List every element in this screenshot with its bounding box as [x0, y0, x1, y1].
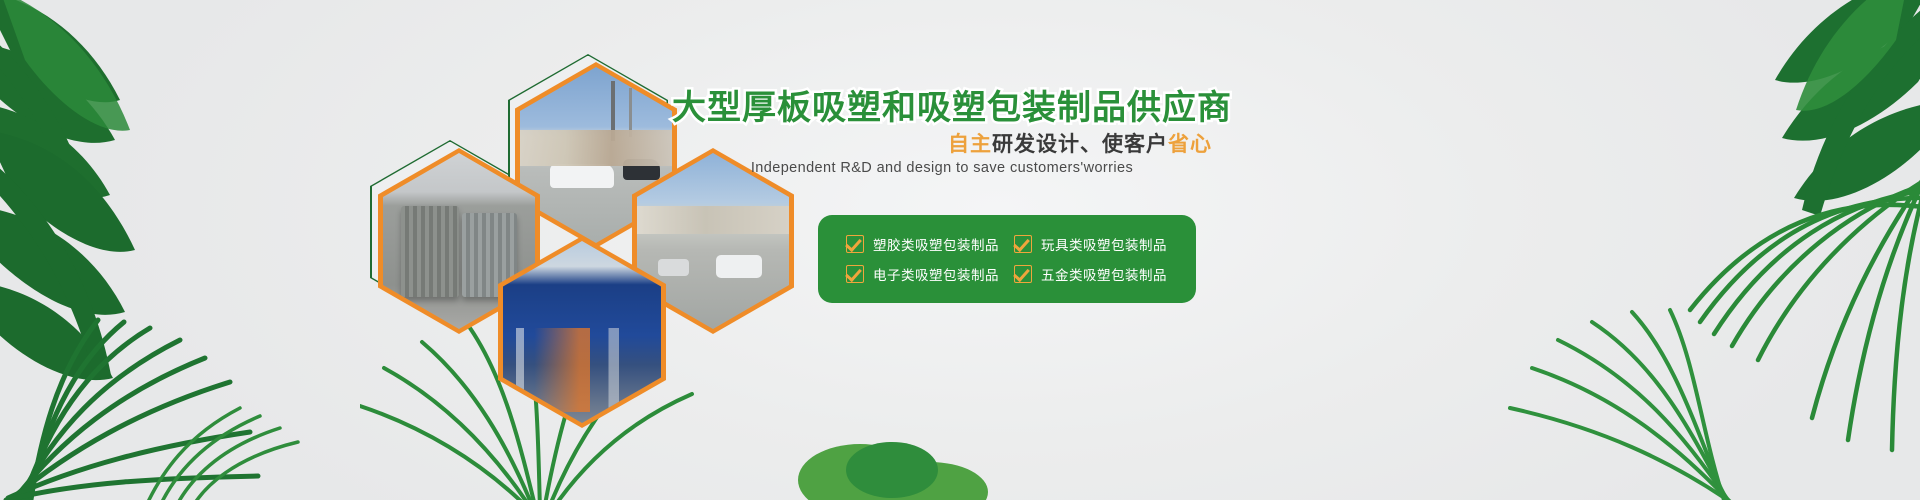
production-line-photo: [503, 241, 661, 423]
banner-headline: 大型厚板吸塑和吸塑包装制品供应商: [672, 80, 1212, 129]
checkbox-checked-icon: [1014, 235, 1032, 253]
promo-banner: 大型厚板吸塑和吸塑包装制品供应商 自主研发设计、使客户省心 Independen…: [0, 0, 1920, 500]
feature-list-box: 塑胶类吸塑包装制品 玩具类吸塑包装制品 电子类吸塑包装制品 五金类吸塑包装制品: [818, 215, 1196, 303]
feature-label: 塑胶类吸塑包装制品: [873, 234, 999, 254]
monstera-leaf-left-top-icon: [0, 0, 270, 390]
monstera-leaf-right-top-icon: [1610, 0, 1920, 260]
checkbox-checked-icon: [1014, 265, 1032, 283]
subline-highlight-start: 自主: [948, 133, 992, 156]
feature-label: 电子类吸塑包装制品: [873, 264, 999, 284]
feature-item-3[interactable]: 五金类吸塑包装制品: [1014, 264, 1182, 284]
checkbox-checked-icon: [846, 235, 864, 253]
subline-highlight-end: 省心: [1168, 133, 1212, 156]
subline-middle: 研发设计、使客户: [992, 133, 1168, 156]
feature-label: 玩具类吸塑包装制品: [1041, 234, 1167, 254]
checkbox-checked-icon: [846, 265, 864, 283]
grass-bottom-left-icon: [120, 400, 380, 500]
feature-item-1[interactable]: 玩具类吸塑包装制品: [1014, 234, 1182, 254]
palm-frond-right-icon: [1640, 150, 1920, 480]
feature-item-2[interactable]: 电子类吸塑包装制品: [846, 264, 1014, 284]
feature-item-0[interactable]: 塑胶类吸塑包装制品: [846, 234, 1014, 254]
banner-subline: 自主研发设计、使客户省心: [672, 128, 1212, 158]
banner-english-tagline: Independent R&D and design to save custo…: [672, 160, 1212, 176]
feature-label: 五金类吸塑包装制品: [1041, 264, 1167, 284]
shrub-bottom-icon: [790, 360, 1020, 500]
palm-frond-bottom-right-icon: [1440, 260, 1740, 500]
palm-frond-bottom-left-icon: [0, 300, 330, 500]
monstera-leaf-left-bottom-icon: [0, 120, 245, 440]
